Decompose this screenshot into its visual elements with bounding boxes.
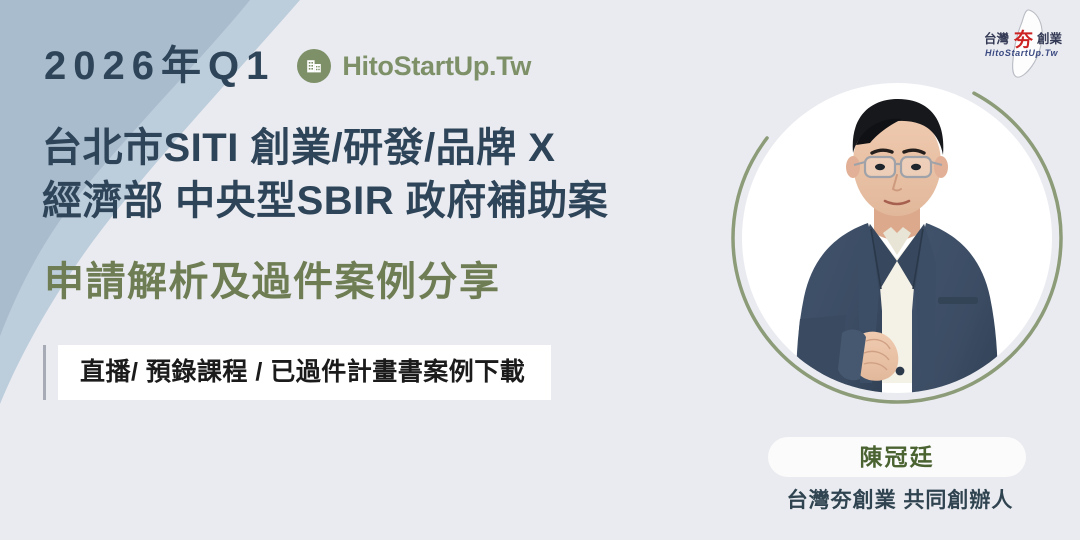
banner-text-column: 2026年Q1: [0, 0, 730, 540]
svg-text:HitoStartUp.Tw: HitoStartUp.Tw: [985, 48, 1058, 58]
title-line-1: 台北市SITI 創業/研發/品牌 X: [42, 122, 608, 175]
year-quarter-label: 2026年Q1: [44, 46, 275, 86]
speaker-name-pill: 陳冠廷: [768, 437, 1026, 477]
svg-text:創業: 創業: [1036, 31, 1063, 46]
header-row: 2026年Q1: [44, 46, 531, 86]
speaker-name: 陳冠廷: [860, 446, 935, 469]
ribbon-box: 直播/ 預錄課程 / 已過件計畫書案例下載: [58, 345, 551, 400]
ribbon-accent-bar: [43, 345, 46, 400]
office-building-icon: [297, 49, 331, 83]
event-banner: 台灣 夯 創業 HitoStartUp.Tw 2026年Q1: [0, 0, 1080, 540]
site-name-label: HitoStartUp.Tw: [342, 53, 531, 80]
title-line-2: 經濟部 中央型SBIR 政府補助案: [42, 175, 608, 228]
ribbon-text: 直播/ 預錄課程 / 已過件計畫書案例下載: [80, 358, 525, 387]
svg-text:台灣: 台灣: [984, 31, 1010, 46]
event-subtitle: 申請解析及過件案例分享: [44, 262, 501, 302]
site-brand-chip: HitoStartUp.Tw: [297, 49, 531, 83]
speaker-portrait: [742, 83, 1052, 443]
speaker-role: 台灣夯創業 共同創辦人: [720, 490, 1080, 511]
event-title: 台北市SITI 創業/研發/品牌 X 經濟部 中央型SBIR 政府補助案: [42, 122, 608, 228]
features-ribbon: 直播/ 預錄課程 / 已過件計畫書案例下載: [43, 345, 551, 400]
brand-logo: 台灣 夯 創業 HitoStartUp.Tw: [972, 6, 1068, 84]
